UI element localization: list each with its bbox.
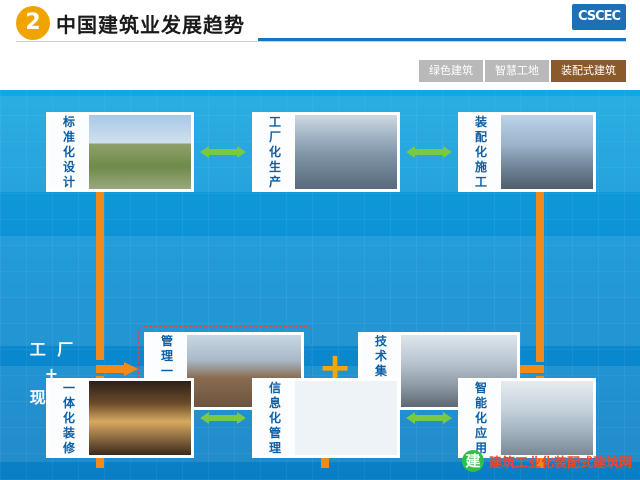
node-label: 信息化管理 <box>255 381 295 455</box>
connector-left-into-management <box>96 362 140 376</box>
arrow-design-to-production <box>200 146 246 158</box>
connector-right-vertical <box>536 192 544 362</box>
node-information-management[interactable]: 信息化管理 BIM <box>252 378 400 458</box>
arrow-bar <box>208 149 238 155</box>
node-standardized-design[interactable]: 标准化设计 <box>46 112 194 192</box>
node-label: 装配化施工 <box>461 115 501 189</box>
arrow-information-to-intelligent <box>406 412 452 424</box>
node-photo-standardized-design <box>89 115 191 189</box>
arrow-decoration-to-information <box>200 412 246 424</box>
slide-number-badge: 2 <box>16 6 50 40</box>
node-label: 工厂化生产 <box>255 115 295 189</box>
tab-green-building[interactable]: 绿色建筑 <box>419 60 483 82</box>
node-intelligent-application[interactable]: 智能化应用 <box>458 378 596 458</box>
slide-root: 2 中国建筑业发展趋势 CSCEC 绿色建筑 智慧工地 装配式建筑 工 厂 + … <box>0 0 640 480</box>
node-photo-information-management: BIM <box>295 381 397 455</box>
watermark-badge-icon: 建 <box>462 450 484 472</box>
connector-left-vertical <box>96 250 104 360</box>
arrow-right-head-icon <box>237 412 246 424</box>
arrow-bar <box>208 415 238 421</box>
arrow-right-head-icon <box>443 146 452 158</box>
header-divider-blue <box>258 38 626 41</box>
arrow-right-head-icon <box>237 146 246 158</box>
node-photo-factory-production <box>295 115 397 189</box>
node-label: 智能化应用 <box>461 381 501 455</box>
node-photo-intelligent-application <box>501 381 593 455</box>
node-label: 标准化设计 <box>49 115 89 189</box>
node-photo-integrated-decoration <box>89 381 191 455</box>
node-assembly-construction[interactable]: 装配化施工 <box>458 112 596 192</box>
tab-smart-site[interactable]: 智慧工地 <box>485 60 549 82</box>
tab-prefab-building[interactable]: 装配式建筑 <box>551 60 626 82</box>
watermark-text: 建筑工业化装配式建筑网 <box>489 452 632 471</box>
arrow-right-head-icon <box>443 412 452 424</box>
page-title: 中国建筑业发展趋势 <box>56 9 245 38</box>
slide-header: 2 中国建筑业发展趋势 CSCEC <box>0 0 640 46</box>
arrow-bar <box>414 149 444 155</box>
company-logo: CSCEC <box>572 4 626 30</box>
node-factory-production[interactable]: 工厂化生产 <box>252 112 400 192</box>
node-photo-assembly-construction <box>501 115 593 189</box>
header-divider-thin <box>16 41 626 42</box>
diagram-canvas: 工 厂 + 现 场 标准化设计 工厂化生产 装配化施工 <box>0 90 640 480</box>
arrow-bar <box>414 415 444 421</box>
left-caption-line1: 工 厂 <box>18 338 88 362</box>
arrow-production-to-assembly <box>406 146 452 158</box>
tab-strip: 绿色建筑 智慧工地 装配式建筑 <box>417 60 626 82</box>
connector-left-down <box>96 192 104 252</box>
watermark: 建 建筑工业化装配式建筑网 <box>462 448 632 474</box>
node-integrated-decoration[interactable]: 一体化装修 <box>46 378 194 458</box>
node-label: 一体化装修 <box>49 381 89 455</box>
